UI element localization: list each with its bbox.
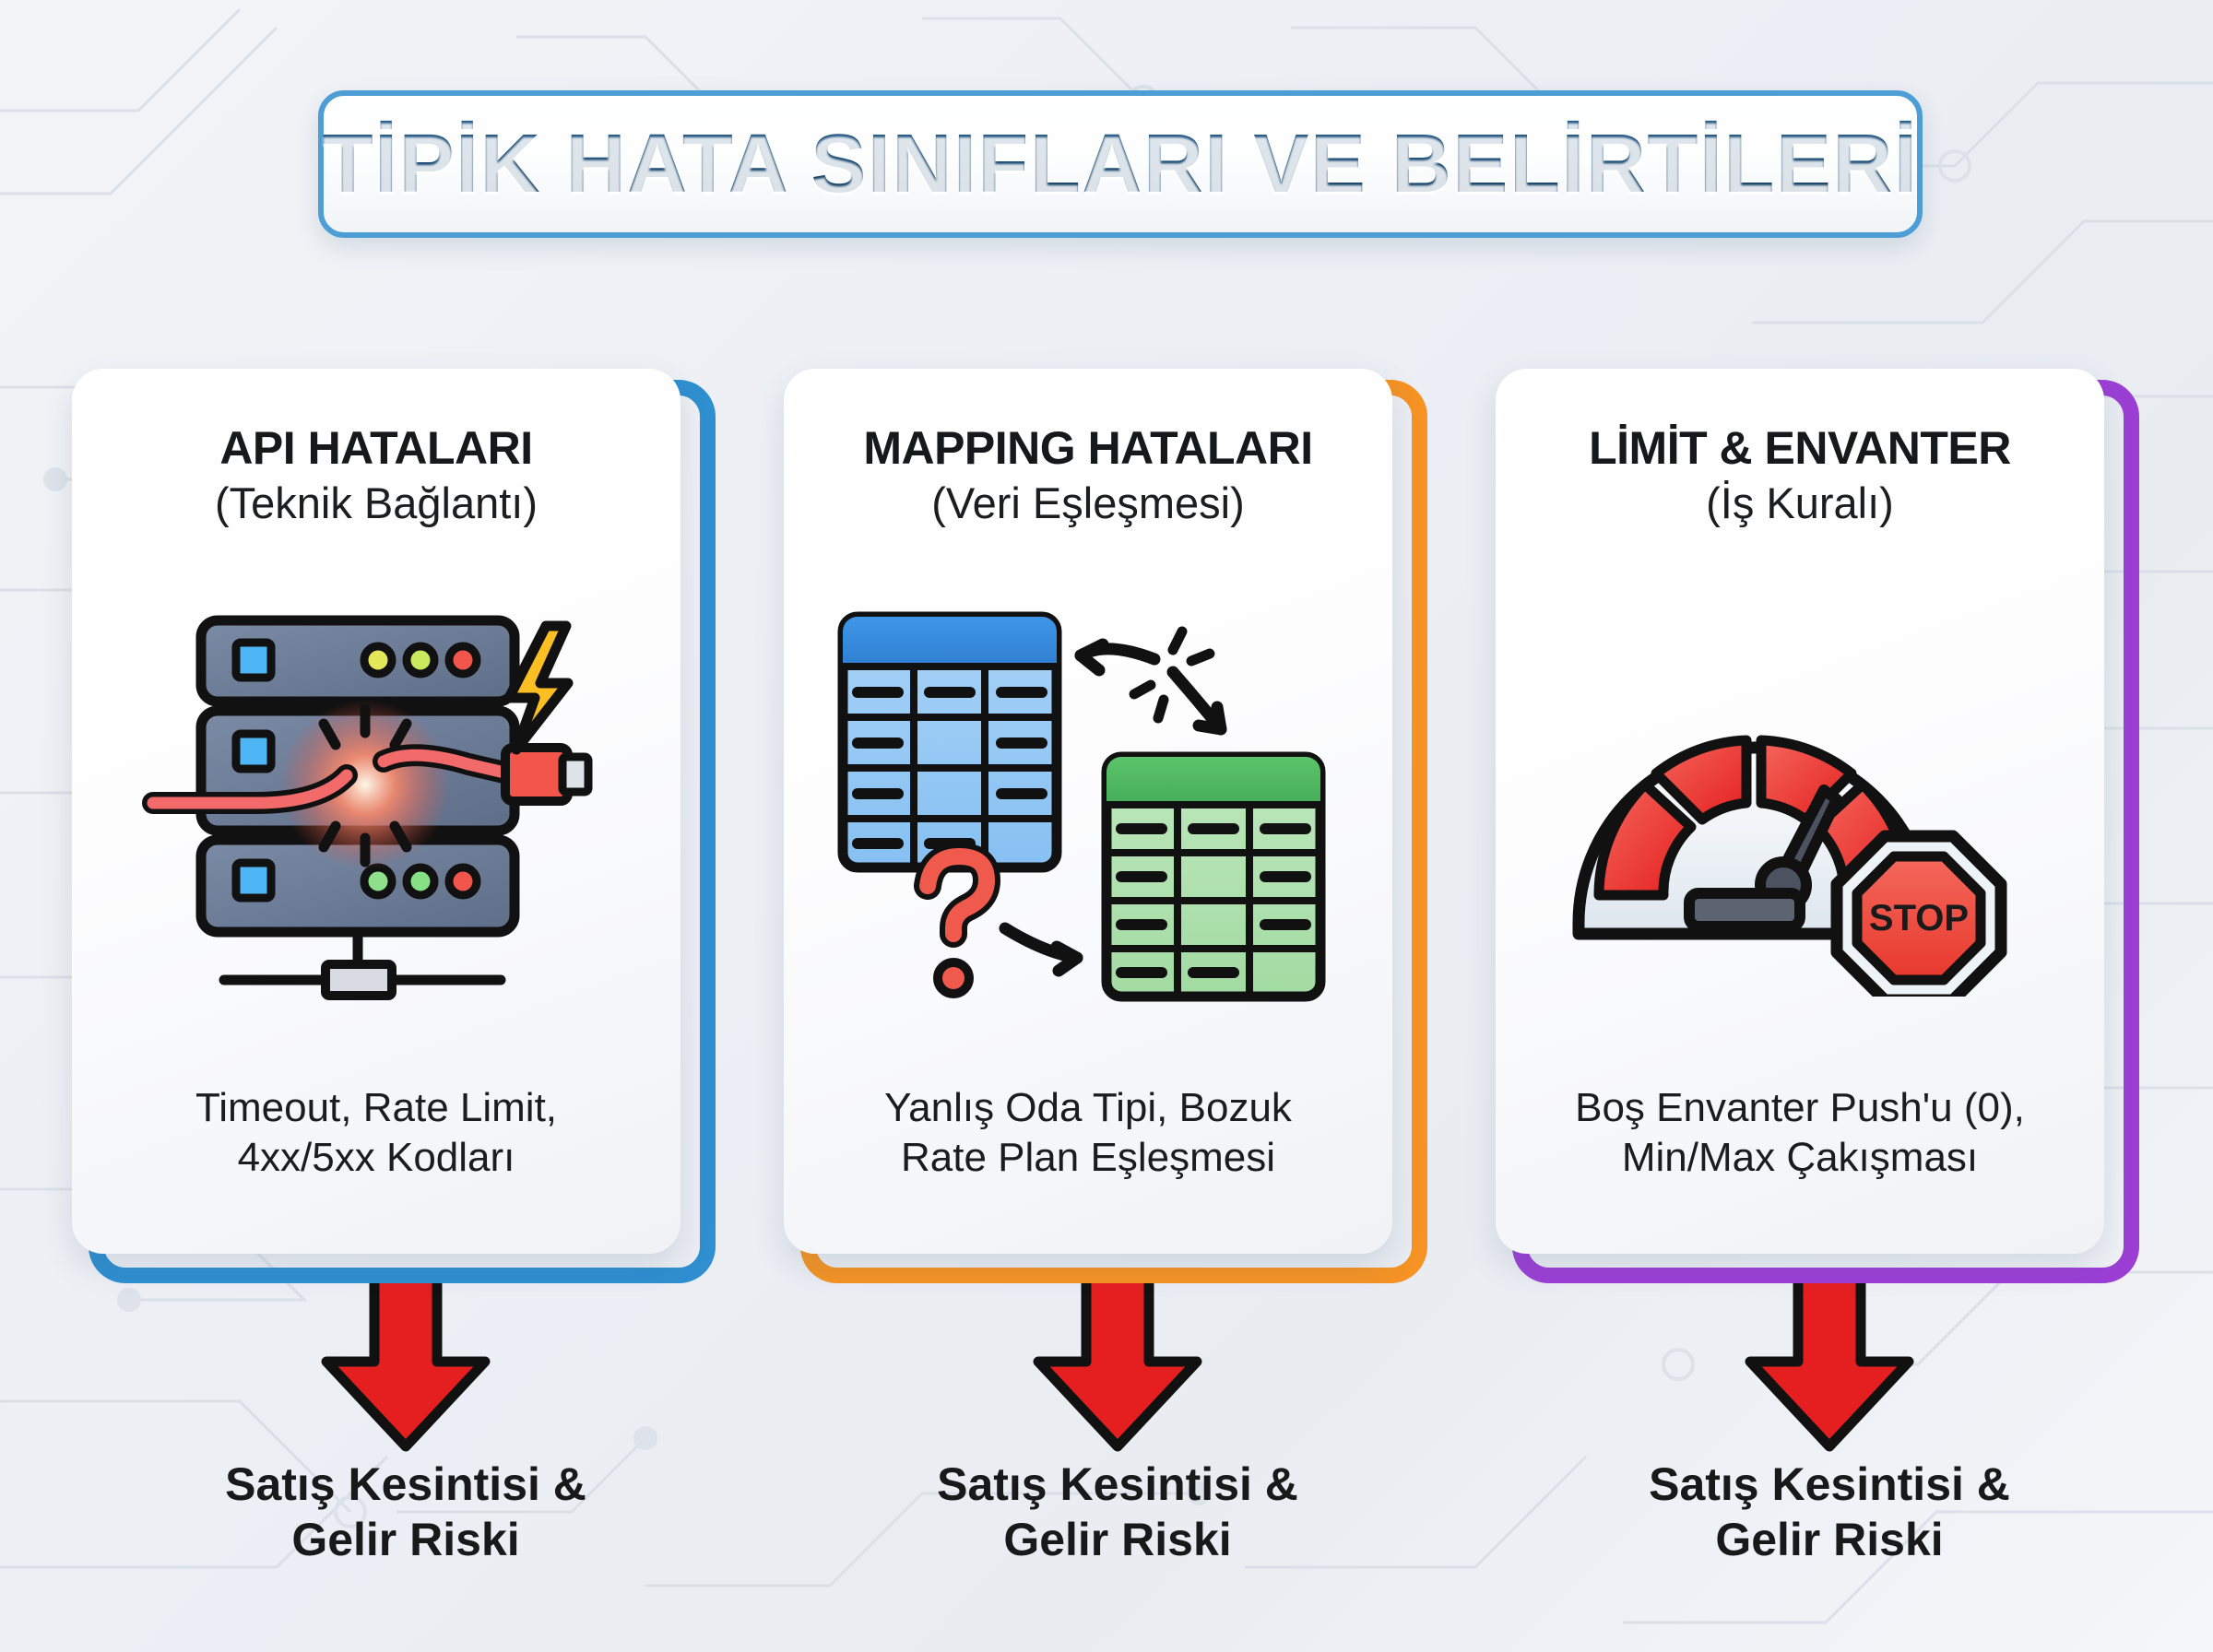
down-arrow-icon [314, 1277, 498, 1452]
card-limit-inventory[interactable]: LİMİT & ENVANTER (İş Kuralı) [1496, 369, 2141, 1291]
card-subtitle-limit: (İş Kuralı) [1706, 478, 1894, 528]
flow-arrows [0, 1277, 2213, 1461]
card-footer-mapping-line2: Rate Plan Eşleşmesi [884, 1133, 1292, 1184]
card-mapping-errors[interactable]: MAPPING HATALARI (Veri Eşleşmesi) [784, 369, 1429, 1291]
card-footer-limit-line2: Min/Max Çakışması [1575, 1133, 2025, 1184]
card-title-api: API HATALARI [219, 424, 532, 472]
card-subtitle-mapping: (Veri Eşleşmesi) [931, 478, 1245, 528]
card-title-mapping: MAPPING HATALARI [863, 424, 1312, 472]
outcome-line1: Satış Kesintisi & [1507, 1457, 2152, 1512]
card-subtitle-api: (Teknik Bağlantı) [215, 478, 538, 528]
down-arrow-icon [1025, 1277, 1210, 1452]
outcome-label-api: Satış Kesintisi & Gelir Riski [83, 1457, 728, 1567]
card-body-mapping: MAPPING HATALARI (Veri Eşleşmesi) [784, 369, 1392, 1254]
card-title-limit: LİMİT & ENVANTER [1589, 424, 2011, 472]
down-arrow-icon [1737, 1277, 1922, 1452]
table-mismatch-icon [806, 532, 1370, 1083]
card-footer-mapping-line1: Yanlış Oda Tipi, Bozuk [884, 1083, 1292, 1134]
card-body-api: API HATALARI (Teknik Bağlantı) [72, 369, 680, 1254]
card-footer-api-line2: 4xx/5xx Kodları [195, 1133, 557, 1184]
outcome-label-mapping: Satış Kesintisi & Gelir Riski [795, 1457, 1440, 1567]
card-body-limit: LİMİT & ENVANTER (İş Kuralı) [1496, 369, 2104, 1254]
server-broken-cable-icon [94, 532, 658, 1083]
card-footer-limit: Boş Envanter Push'u (0), Min/Max Çakışma… [1575, 1083, 2025, 1217]
stop-sign-label: STOP [1869, 898, 1969, 938]
title-banner-box: TİPİK HATA SINIFLARI VE BELİRTİLERİ [318, 90, 1923, 238]
gauge-stop-icon: STOP [1518, 532, 2082, 1083]
card-api-errors[interactable]: API HATALARI (Teknik Bağlantı) [72, 369, 717, 1291]
card-footer-limit-line1: Boş Envanter Push'u (0), [1575, 1083, 2025, 1134]
outcome-line2: Gelir Riski [83, 1512, 728, 1567]
outcome-line2: Gelir Riski [1507, 1512, 2152, 1567]
outcome-line1: Satış Kesintisi & [83, 1457, 728, 1512]
page-title: TİPİK HATA SINIFLARI VE BELİRTİLERİ [323, 117, 1919, 212]
error-class-cards: API HATALARI (Teknik Bağlantı) [0, 369, 2213, 1291]
card-footer-mapping: Yanlış Oda Tipi, Bozuk Rate Plan Eşleşme… [884, 1083, 1292, 1217]
outcome-line2: Gelir Riski [795, 1512, 1440, 1567]
outcome-label-limit: Satış Kesintisi & Gelir Riski [1507, 1457, 2152, 1567]
card-footer-api-line1: Timeout, Rate Limit, [195, 1083, 557, 1134]
outcome-labels: Satış Kesintisi & Gelir Riski Satış Kesi… [0, 1457, 2213, 1641]
outcome-line1: Satış Kesintisi & [795, 1457, 1440, 1512]
page-title-banner: TİPİK HATA SINIFLARI VE BELİRTİLERİ [318, 90, 1923, 238]
card-footer-api: Timeout, Rate Limit, 4xx/5xx Kodları [195, 1083, 557, 1217]
